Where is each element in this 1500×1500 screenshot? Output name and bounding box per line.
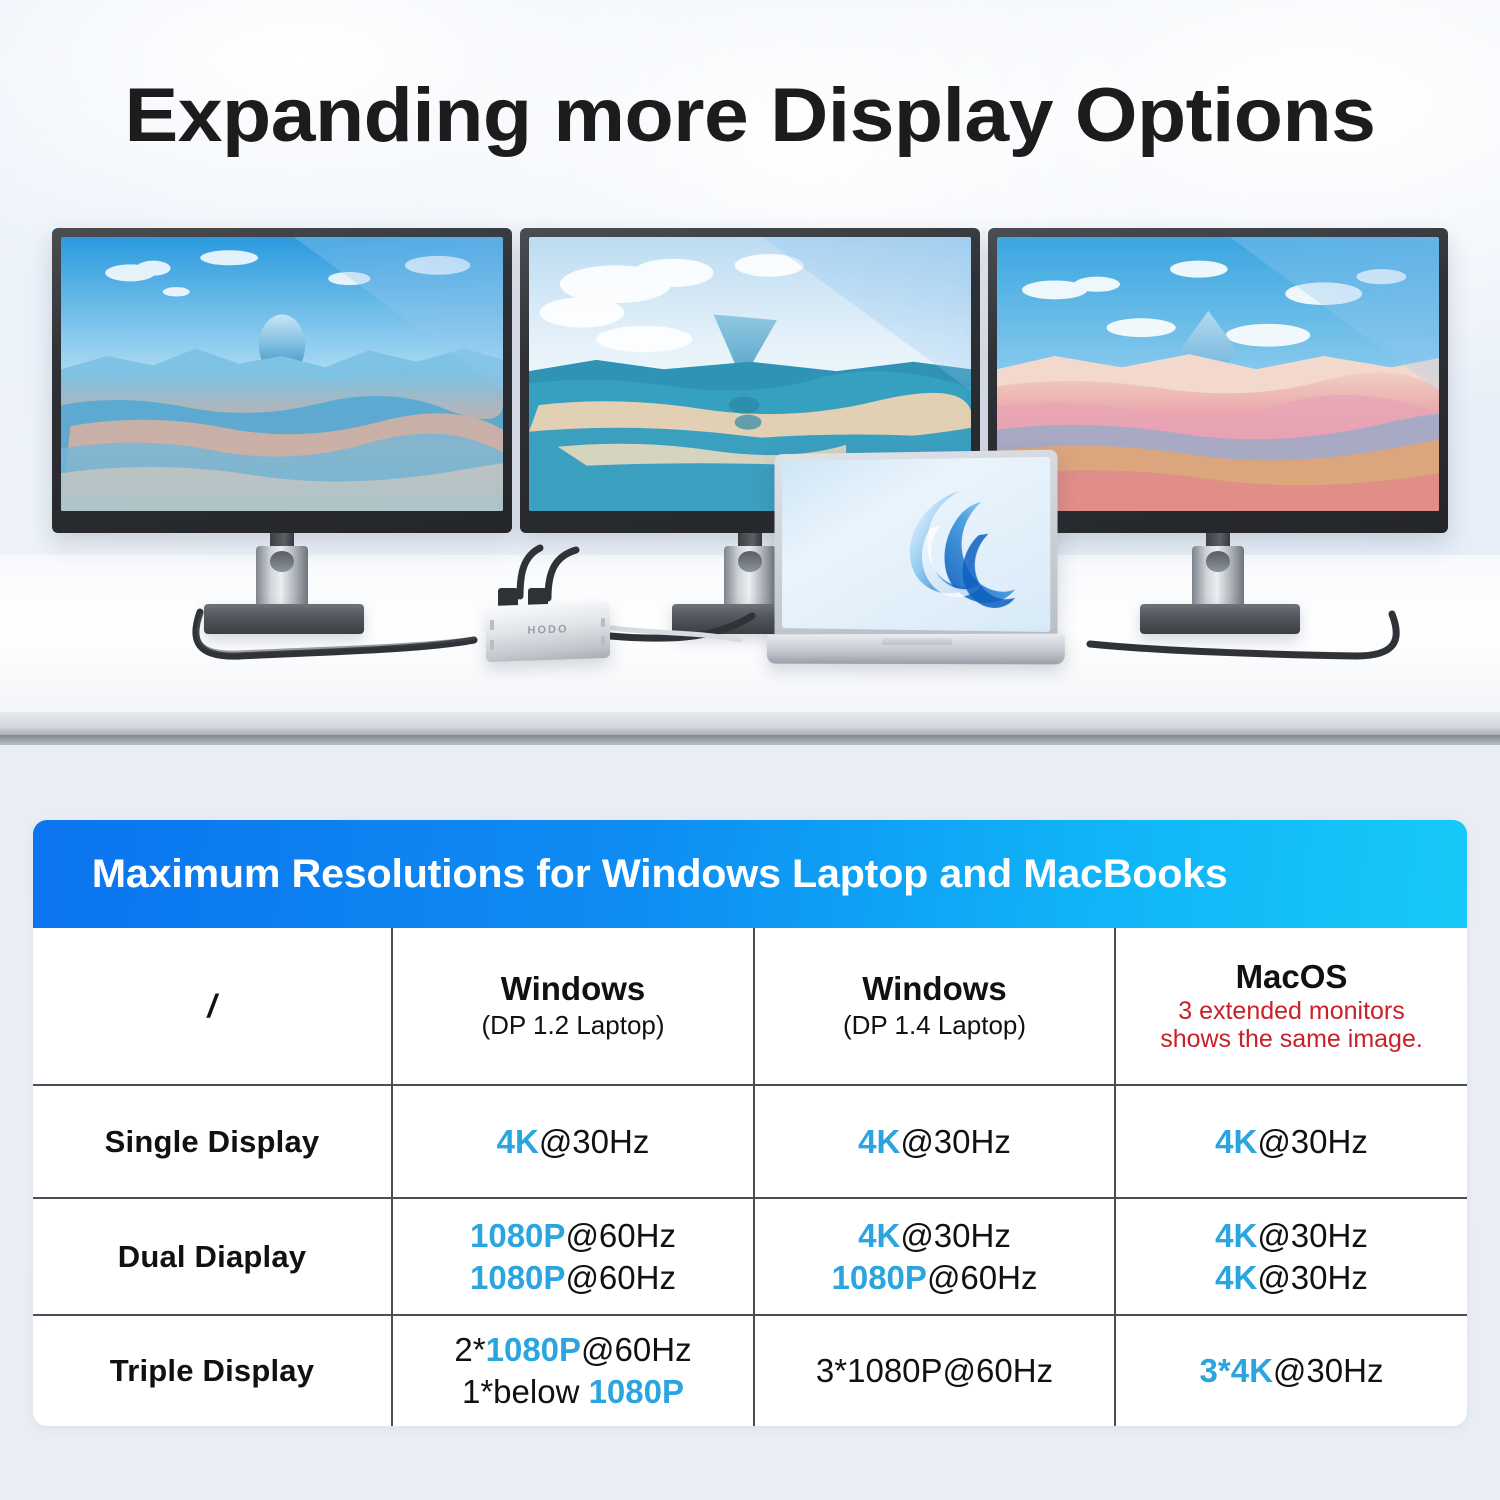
row-label: Single Display — [33, 1124, 391, 1160]
header-cell-windows-dp14: Windows (DP 1.4 Laptop) — [754, 928, 1115, 1085]
resolution-value: 4K@30Hz — [755, 1121, 1114, 1163]
resolution-table-card: Maximum Resolutions for Windows Laptop a… — [33, 820, 1467, 1426]
resolution-value: 4K@30Hz — [393, 1121, 753, 1163]
header-cell-slash: / — [33, 928, 392, 1085]
table-row: Single Display 4K@30Hz 4K@30Hz 4K@30Hz — [33, 1085, 1467, 1198]
laptop — [762, 452, 1062, 667]
table-row: Triple Display 2*1080P@60Hz1*below 1080P… — [33, 1315, 1467, 1426]
hub-brand-label: HODO — [486, 622, 610, 638]
table-header-banner: Maximum Resolutions for Windows Laptop a… — [33, 820, 1467, 928]
resolution-table: / Windows (DP 1.2 Laptop) Windows (DP 1.… — [33, 928, 1467, 1426]
value-cell: 4K@30Hz4K@30Hz — [1115, 1198, 1467, 1315]
resolution-value: 3*1080P@60Hz — [755, 1350, 1114, 1392]
resolution-value: 1080P@60Hz1080P@60Hz — [393, 1215, 753, 1298]
row-label-cell: Dual Diaplay — [33, 1198, 392, 1315]
header-cell-macos: MacOS 3 extended monitorsshows the same … — [1115, 928, 1467, 1085]
monitor-left-base — [204, 604, 364, 634]
laptop-trackpad — [882, 638, 952, 645]
monitor-right-screen — [997, 237, 1439, 511]
monitor-right-neck — [1192, 546, 1244, 608]
resolution-value: 3*4K@30Hz — [1116, 1350, 1467, 1392]
resolution-value: 2*1080P@60Hz1*below 1080P — [393, 1329, 753, 1412]
value-cell: 3*1080P@60Hz — [754, 1315, 1115, 1426]
table-heading: Maximum Resolutions for Windows Laptop a… — [33, 852, 1228, 897]
column-os-sub: (DP 1.2 Laptop) — [393, 1010, 753, 1041]
value-cell: 4K@30Hz — [754, 1085, 1115, 1198]
hero-scene: Expanding more Display Options — [0, 0, 1500, 745]
resolution-value: 4K@30Hz — [1116, 1121, 1467, 1163]
desk-shadow-line — [0, 735, 1500, 745]
windows-bloom-wallpaper — [855, 485, 1051, 625]
row-label-cell: Triple Display — [33, 1315, 392, 1426]
value-cell: 4K@30Hz — [392, 1085, 754, 1198]
value-cell: 3*4K@30Hz — [1115, 1315, 1467, 1426]
value-cell: 4K@30Hz1080P@60Hz — [754, 1198, 1115, 1315]
monitor-right-base — [1140, 604, 1300, 634]
usb-c-hub: HODO — [486, 602, 610, 662]
hub-port — [601, 618, 605, 627]
hub-port — [490, 640, 494, 650]
value-cell: 4K@30Hz — [1115, 1085, 1467, 1198]
hub-port — [490, 620, 494, 630]
macos-note: 3 extended monitorsshows the same image. — [1116, 997, 1467, 1053]
row-label: Dual Diaplay — [33, 1239, 391, 1275]
value-cell: 1080P@60Hz1080P@60Hz — [392, 1198, 754, 1315]
slash-label: / — [33, 988, 391, 1025]
table-header-row: / Windows (DP 1.2 Laptop) Windows (DP 1.… — [33, 928, 1467, 1085]
laptop-lid — [774, 450, 1057, 643]
value-cell: 2*1080P@60Hz1*below 1080P — [392, 1315, 754, 1426]
column-os-sub: (DP 1.4 Laptop) — [755, 1010, 1114, 1041]
resolution-value: 4K@30Hz4K@30Hz — [1116, 1215, 1467, 1298]
hub-port — [601, 636, 605, 645]
header-cell-windows-dp12: Windows (DP 1.2 Laptop) — [392, 928, 754, 1085]
row-label: Triple Display — [33, 1353, 391, 1389]
monitor-left-screen — [61, 237, 503, 511]
resolution-value: 4K@30Hz1080P@60Hz — [755, 1215, 1114, 1298]
infographic-page: Expanding more Display Options — [0, 0, 1500, 1500]
row-label-cell: Single Display — [33, 1085, 392, 1198]
laptop-screen — [782, 457, 1050, 632]
column-os-name: Windows — [393, 971, 753, 1007]
column-os-name: MacOS — [1116, 959, 1467, 995]
column-os-name: Windows — [755, 971, 1114, 1007]
page-title: Expanding more Display Options — [0, 72, 1500, 159]
monitor-left-neck — [256, 546, 308, 608]
table-row: Dual Diaplay 1080P@60Hz1080P@60Hz 4K@30H… — [33, 1198, 1467, 1315]
